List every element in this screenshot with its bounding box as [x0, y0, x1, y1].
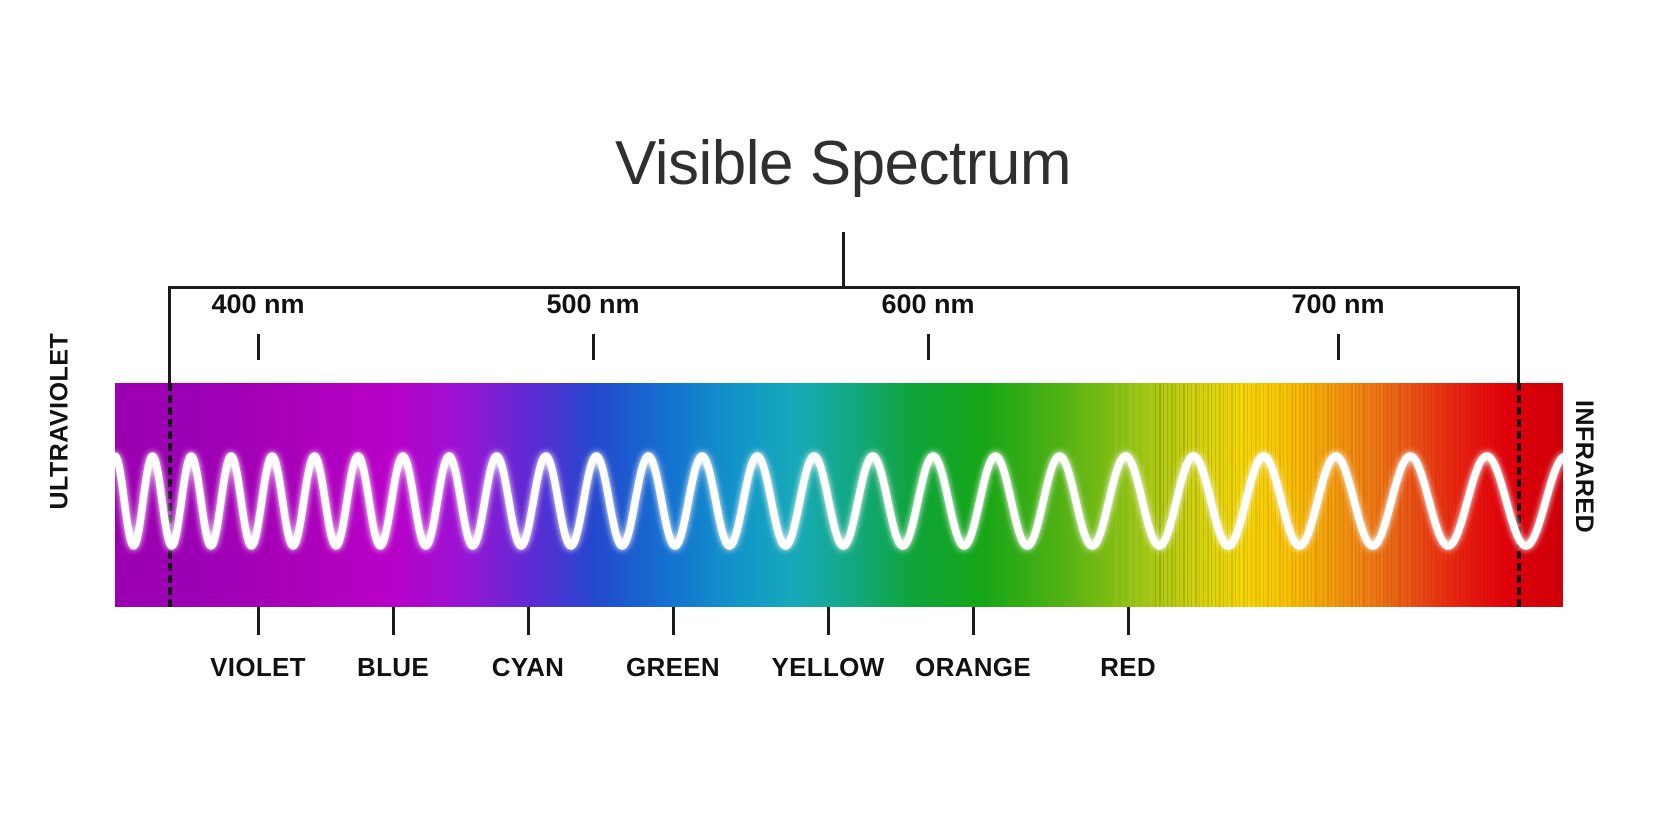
- infrared-boundary-line: [1517, 383, 1521, 607]
- spectrum-band: [115, 383, 1563, 607]
- color-label-green: GREEN: [626, 652, 720, 683]
- spectrum-gradient: [115, 383, 1563, 607]
- color-label-violet: VIOLET: [210, 652, 306, 683]
- wavelength-tick-0: [257, 334, 260, 360]
- color-tick-orange: [972, 607, 975, 635]
- color-label-cyan: CYAN: [492, 652, 564, 683]
- wavelength-label-0: 400 nm: [211, 289, 304, 320]
- wavelength-label-2: 600 nm: [881, 289, 974, 320]
- wavelength-label-1: 500 nm: [546, 289, 639, 320]
- color-label-yellow: YELLOW: [771, 652, 884, 683]
- wavelength-label-3: 700 nm: [1291, 289, 1384, 320]
- color-label-blue: BLUE: [357, 652, 429, 683]
- page-title-text: Visible Spectrum: [615, 128, 1071, 199]
- color-tick-cyan: [527, 607, 530, 635]
- color-tick-violet: [257, 607, 260, 635]
- color-tick-yellow: [827, 607, 830, 635]
- infrared-label: INFRARED: [1569, 400, 1598, 533]
- color-label-orange: ORANGE: [915, 652, 1031, 683]
- spectrum-diagram: Visible Spectrum 400 nm500 nm600 nm700 n…: [0, 0, 1680, 819]
- color-label-red: RED: [1100, 652, 1156, 683]
- bracket-left-stem: [168, 286, 171, 384]
- bracket-right-stem: [1517, 286, 1520, 384]
- color-tick-green: [672, 607, 675, 635]
- color-tick-blue: [392, 607, 395, 635]
- page-title: Visible Spectrum: [0, 128, 1680, 199]
- wavelength-tick-2: [927, 334, 930, 360]
- color-tick-red: [1127, 607, 1130, 635]
- ultraviolet-boundary-line: [168, 383, 172, 607]
- wavelength-tick-1: [592, 334, 595, 360]
- wavelength-tick-3: [1337, 334, 1340, 360]
- ultraviolet-label: ULTRAVIOLET: [46, 333, 75, 510]
- title-connector-line: [842, 232, 845, 288]
